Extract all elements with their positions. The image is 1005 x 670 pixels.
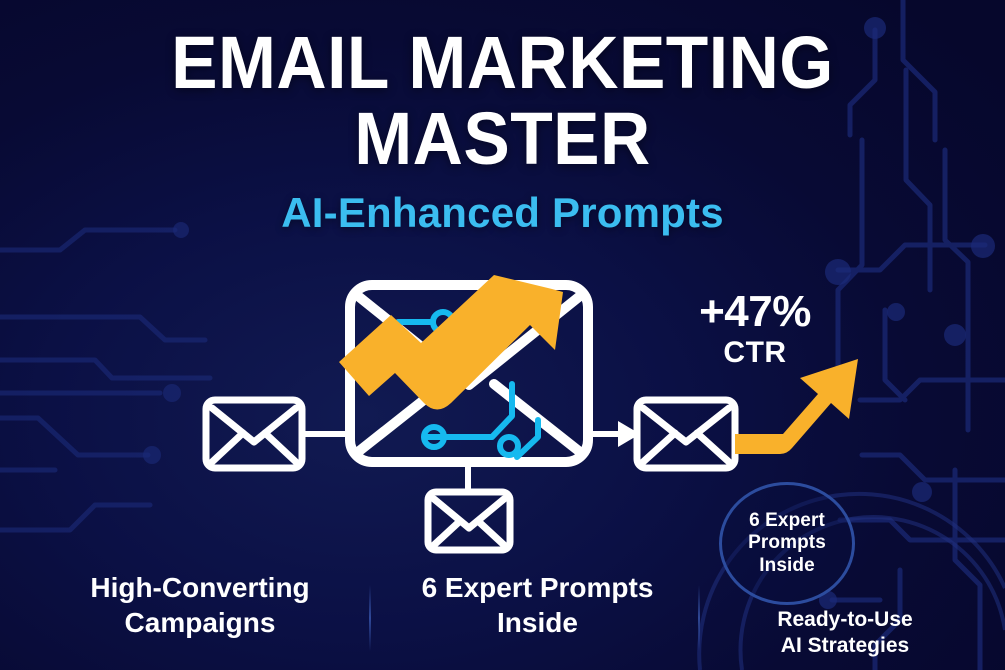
circuit-nodes-inner	[424, 312, 518, 455]
footer-feature-3: Ready-to-Use AI Strategies	[705, 607, 985, 660]
page-subtitle: AI-Enhanced Prompts	[0, 189, 1005, 237]
headline-block: EMAIL MARKETING MASTER AI-Enhanced Promp…	[0, 28, 1005, 237]
arrow-right-icon	[618, 421, 640, 447]
envelope-icon-bottom	[428, 492, 510, 550]
footer-feature-2: 6 Expert Prompts Inside	[375, 570, 700, 641]
trending-up-arrow-icon-right	[735, 359, 858, 454]
envelope-icon-right	[637, 400, 735, 468]
footer-feature-1: High-Converting Campaigns	[40, 570, 360, 641]
envelope-icon-left	[206, 400, 302, 468]
footer-divider-1	[369, 585, 371, 651]
stat-value: +47%	[660, 290, 850, 334]
footer-feature-row: High-Converting Campaigns 6 Expert Promp…	[0, 565, 1005, 670]
stat-block: +47% CTR	[660, 290, 850, 372]
page-title-line-1: EMAIL MARKETING	[30, 28, 975, 98]
circuit-traces-inner	[378, 322, 538, 457]
poster-canvas: EMAIL MARKETING MASTER AI-Enhanced Promp…	[0, 0, 1005, 670]
envelope-icon-main	[350, 285, 588, 462]
trending-up-arrow-icon-main	[330, 266, 566, 411]
stat-unit-label: CTR	[660, 334, 850, 372]
page-title-line-2: MASTER	[30, 104, 975, 174]
